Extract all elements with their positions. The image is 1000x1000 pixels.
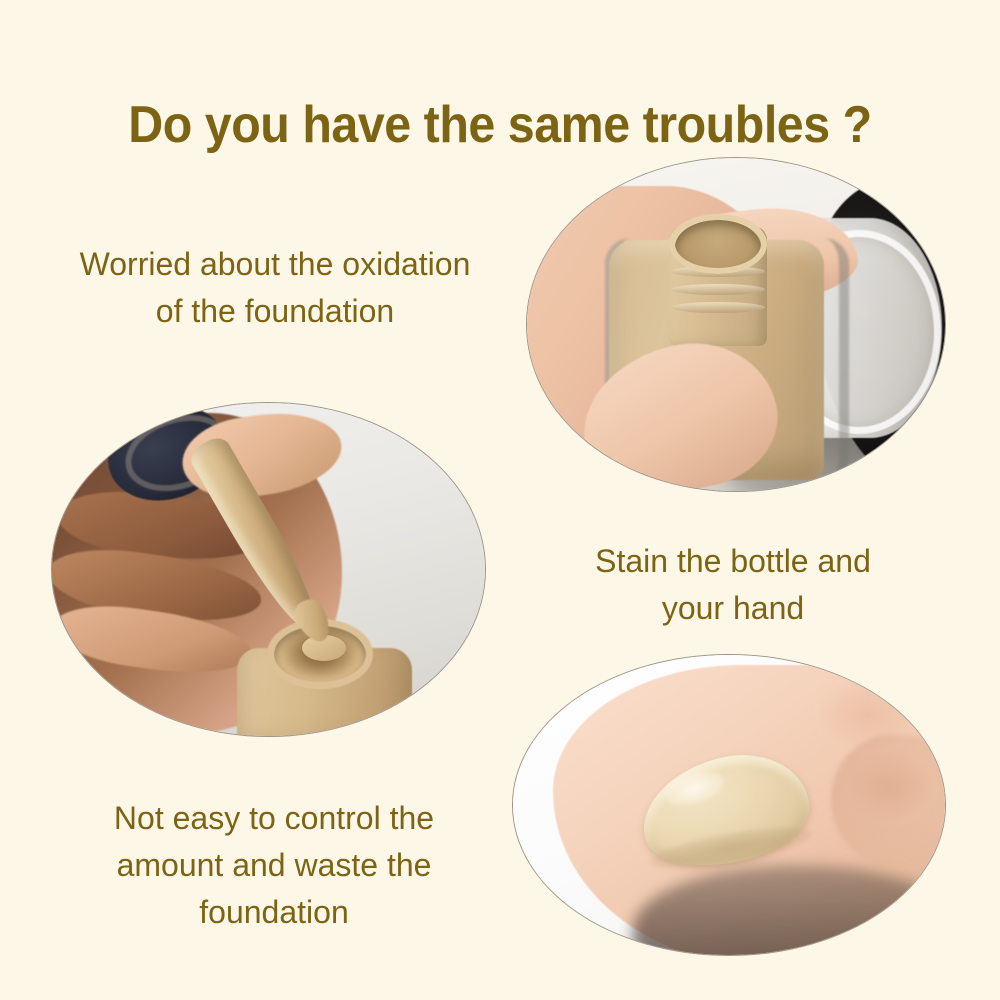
- poster-root: Do you have the same troubles ? Worried …: [0, 0, 1000, 1000]
- photo-dropper: [52, 403, 485, 736]
- bottle-thread: [671, 284, 765, 295]
- photo-bottle-neck: [527, 158, 945, 491]
- bottle-thread: [671, 302, 765, 313]
- caption-waste: Not easy to control the amount and waste…: [48, 795, 500, 936]
- bottle-opening-rim: [669, 214, 767, 274]
- photo-bottle-neck-content: [527, 158, 945, 491]
- page-title: Do you have the same troubles ?: [35, 93, 965, 157]
- caption-stain: Stain the bottle and your hand: [528, 538, 938, 632]
- photo-hand-blob: [513, 655, 945, 955]
- finger-edge: [831, 735, 945, 865]
- photo-hand-blob-content: [513, 655, 945, 955]
- caption-oxidation: Worried about the oxidation of the found…: [20, 241, 530, 335]
- photo-dropper-content: [52, 403, 485, 736]
